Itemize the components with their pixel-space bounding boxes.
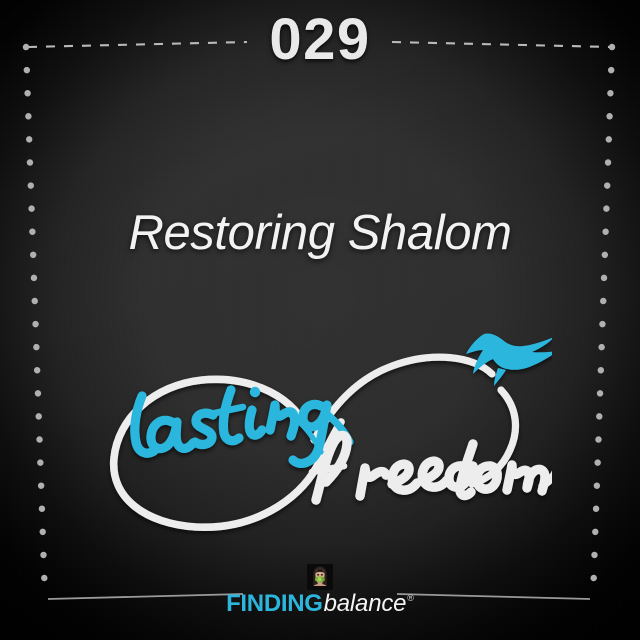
episode-number: 029 <box>0 6 640 73</box>
lasting-freedom-logo <box>92 318 552 548</box>
episode-cover: 029 Restoring Shalom <box>0 0 640 640</box>
episode-title: Restoring Shalom <box>0 205 640 261</box>
logo-word-lasting <box>135 387 350 464</box>
registered-trademark-symbol: ® <box>407 594 414 603</box>
brand-lockup: FINDING balance ® <box>0 568 640 616</box>
brand-wordmark: FINDING balance ® <box>218 592 422 616</box>
woman-with-greens-photo <box>307 564 333 590</box>
brand-finding-text: FINDING <box>226 592 323 616</box>
logo-artwork <box>92 318 552 548</box>
brand-balance-text: balance <box>324 592 407 616</box>
logo-word-freedom <box>312 435 552 500</box>
seagull-icon <box>466 334 552 386</box>
